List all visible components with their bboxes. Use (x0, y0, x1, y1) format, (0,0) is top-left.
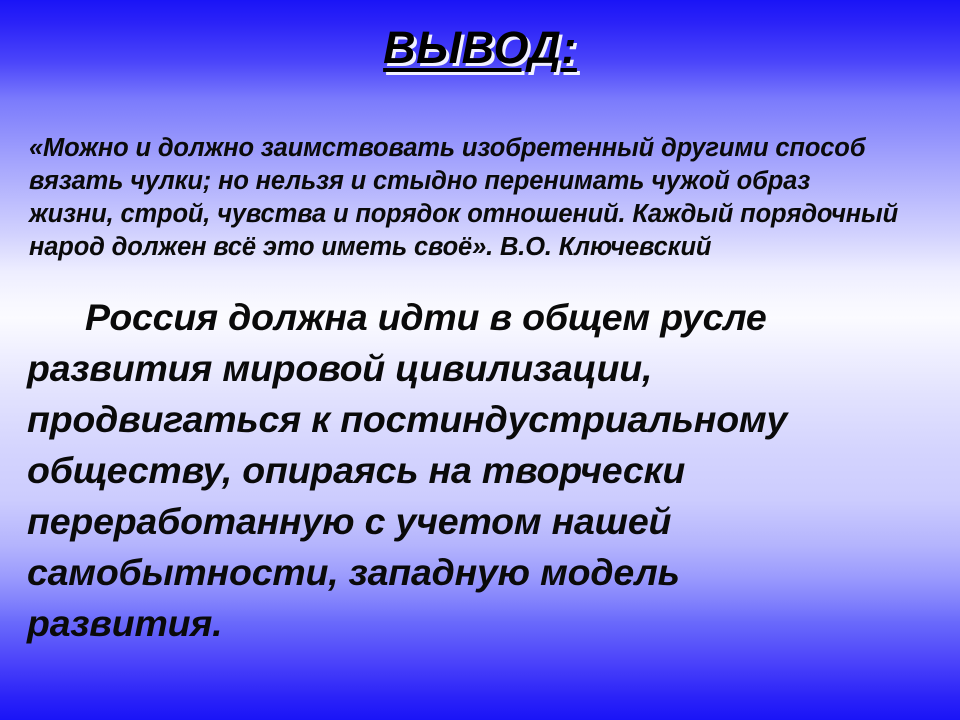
body-line: Россия должна идти в общем русле (27, 292, 937, 343)
body-paragraph: Россия должна идти в общем русле развити… (27, 292, 937, 649)
body-line: продвигаться к постиндустриальному (27, 394, 937, 445)
body-line: развития мировой цивилизации, (27, 343, 937, 394)
presentation-slide: ВЫВОД: «Можно и должно заимствовать изоб… (0, 0, 960, 720)
page-title: ВЫВОД: (383, 22, 577, 74)
body-line: обществу, опираясь на творчески (27, 445, 937, 496)
quote-line: жизни, строй, чувства и порядок отношени… (29, 198, 929, 231)
quote-line: народ должен всё это иметь своё». В.О. К… (29, 231, 929, 264)
body-line: переработанную с учетом нашей (27, 496, 937, 547)
body-line: самобытности, западную модель (27, 547, 937, 598)
quote-line: «Можно и должно заимствовать изобретенны… (29, 132, 929, 165)
slide-title-area: ВЫВОД: (0, 22, 960, 74)
quotation-block: «Можно и должно заимствовать изобретенны… (29, 132, 929, 264)
body-line: развития. (27, 598, 937, 649)
quote-line: вязать чулки; но нельзя и стыдно переним… (29, 165, 929, 198)
